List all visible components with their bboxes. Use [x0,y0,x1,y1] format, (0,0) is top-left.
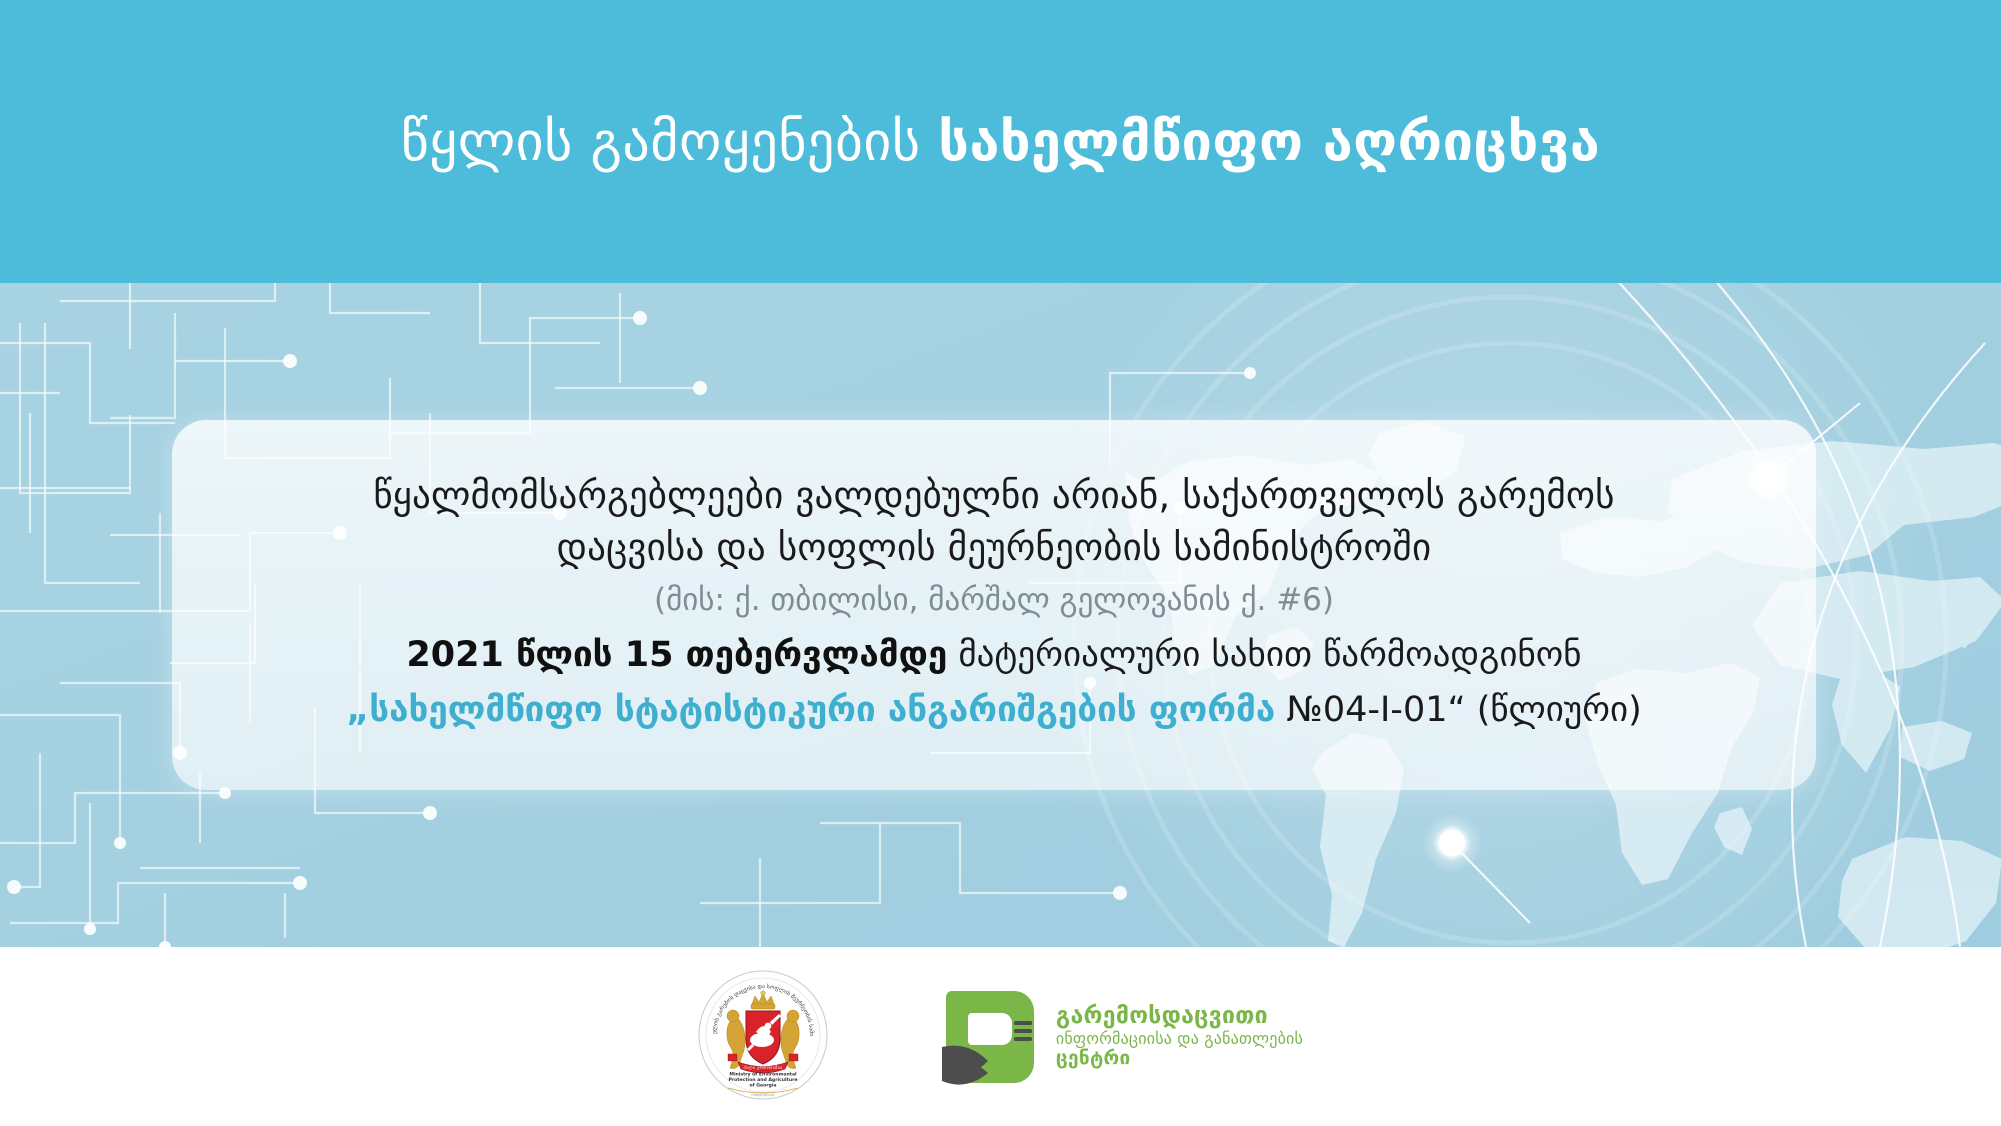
eiec-line-3: ცენტრი [1056,1048,1303,1069]
page-title-bold: სახელმწიფო აღრიცხვა [938,110,1600,173]
deadline-instruction: მატერიალური სახით წარმოადგინონ [947,635,1581,675]
form-number: №04-I-01“ (წლიური) [1275,690,1642,730]
notice-deadline: 2021 წლის 15 თებერვლამდე მატერიალური სახ… [406,629,1581,682]
notice-card: წყალმომსარგებლეები ვალდებულნი არიან, საქ… [172,420,1816,790]
ministry-emblem-icon: საქართველოს გარემოს დაცვისა და სოფლის მე… [698,970,828,1100]
ministry-logo: საქართველოს გარემოს დაცვისა და სოფლის მე… [698,970,828,1104]
eiec-line-2: ინფორმაციისა და განათლების [1056,1030,1303,1048]
form-name: სახელმწიფო სტატისტიკური ანგარიშგების ფორ… [369,690,1275,730]
background-scene: წყალმომსარგებლეები ვალდებულნი არიან, საქ… [0,283,2001,947]
footer-bar: საქართველოს გარემოს დაცვისა და სოფლის მე… [0,947,2001,1126]
ministry-caption-line1: Ministry of Environmental [729,1071,797,1077]
notice-line-1: წყალმომსარგებლეები ვალდებულნი არიან, საქ… [373,470,1614,523]
form-quote-open: „ [346,690,369,730]
poster-canvas: წყლის გამოყენების სახელმწიფო აღრიცხვა [0,0,2001,1126]
svg-text:ძალა ერთობაშია: ძალა ერთობაშია [743,1065,782,1070]
page-title-regular: წყლის გამოყენების [401,110,938,173]
ministry-caption-line3: of Georgia [749,1082,776,1088]
ministry-url: mepa.gov.ge [751,1093,775,1097]
deadline-date: 2021 წლის 15 თებერვლამდე [406,635,947,675]
eiec-wordmark: გარემოსდაცვითი ინფორმაციისა და განათლები… [1056,1004,1303,1069]
notice-address: (მის: ქ. თბილისი, მარშალ გელოვანის ქ. #6… [654,577,1334,624]
eiec-logo: გარემოსდაცვითი ინფორმაციისა და განათლები… [938,985,1303,1089]
notice-form: „სახელმწიფო სტატისტიკური ანგარიშგების ფო… [346,684,1642,737]
page-title: წყლის გამოყენების სახელმწიფო აღრიცხვა [401,112,1600,171]
ministry-caption-line2: Protection and Agriculture [728,1077,797,1083]
eiec-book-icon [938,985,1042,1089]
eiec-line-1: გარემოსდაცვითი [1056,1004,1303,1030]
notice-line-2: დაცვისა და სოფლის მეურნეობის სამინისტროშ… [557,522,1432,575]
header-bar: წყლის გამოყენების სახელმწიფო აღრიცხვა [0,0,2001,283]
